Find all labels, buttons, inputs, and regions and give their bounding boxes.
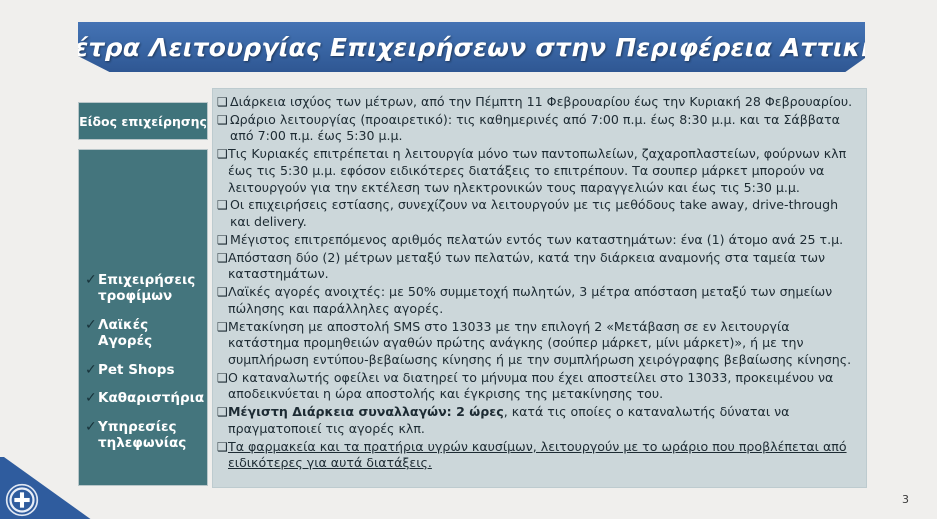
bullet-item: ❑Ωράριο λειτουργίας (προαιρετικό): τις κ… [217, 112, 859, 145]
bullet-text: Ωράριο λειτουργίας (προαιρετικό): τις κα… [230, 112, 859, 145]
bullet-text: Λαϊκές αγορές ανοιχτές: με 50% συμμετοχή… [228, 284, 859, 317]
bullet-item: ❑Τα φαρμακεία και τα πρατήρια υγρών καυσ… [217, 439, 859, 472]
bullet-text: Μέγιστη Διάρκεια συναλλαγών: 2 ώρες, κατ… [228, 404, 859, 437]
bullet-text: Απόσταση δύο (2) μέτρων μεταξύ των πελατ… [228, 250, 859, 283]
sidebar-item-label: Επιχειρήσεις τροφίμων [98, 272, 203, 305]
bullet-bold-prefix: Μέγιστη Διάρκεια συναλλαγών: 2 ώρες [228, 404, 504, 419]
sidebar-item-label: Υπηρεσίες τηλεφωνίας [98, 419, 203, 452]
bullet-item: ❑Μέγιστη Διάρκεια συναλλαγών: 2 ώρες, κα… [217, 404, 859, 437]
bullet-item: ❑Τις Κυριακές επιτρέπεται η λειτουργία μ… [217, 146, 859, 196]
checkbox-bullet-icon: ❑ [217, 197, 230, 214]
sidebar-item-label: Pet Shops [98, 362, 175, 378]
hellenic-republic-emblem-icon [5, 483, 39, 517]
sidebar-item[interactable]: ✓Υπηρεσίες τηλεφωνίας [85, 419, 203, 452]
checkbox-bullet-icon: ❑ [217, 370, 228, 387]
checkbox-bullet-icon: ❑ [217, 404, 228, 421]
bullet-text: Μετακίνηση με αποστολή SMS στο 13033 με … [228, 319, 859, 369]
check-icon: ✓ [85, 317, 98, 333]
checkbox-bullet-icon: ❑ [217, 146, 228, 163]
checkbox-bullet-icon: ❑ [217, 250, 228, 267]
bullet-text: Τις Κυριακές επιτρέπεται η λειτουργία μό… [228, 146, 859, 196]
page-title: Μέτρα Λειτουργίας Επιχειρήσεων στην Περι… [49, 33, 893, 62]
bullet-text: Διάρκεια ισχύος των μέτρων, από την Πέμπ… [230, 94, 859, 111]
bullet-item: ❑Διάρκεια ισχύος των μέτρων, από την Πέμ… [217, 94, 859, 111]
bullet-item: ❑Οι επιχειρήσεις εστίασης, συνεχίζουν να… [217, 197, 859, 230]
checkbox-bullet-icon: ❑ [217, 232, 230, 249]
bullet-text: Τα φαρμακεία και τα πρατήρια υγρών καυσί… [228, 439, 859, 472]
checkbox-bullet-icon: ❑ [217, 284, 228, 301]
check-icon: ✓ [85, 419, 98, 435]
sidebar-header: Είδος επιχείρησης [78, 102, 208, 140]
checkbox-bullet-icon: ❑ [217, 319, 228, 336]
sidebar-item[interactable]: ✓Λαϊκές Αγορές [85, 317, 203, 350]
bullet-text: Ο καταναλωτής οφείλει να διατηρεί το μήν… [228, 370, 859, 403]
sidebar-item-label: Λαϊκές Αγορές [98, 317, 203, 350]
sidebar-item-label: Καθαριστήρια [98, 390, 204, 406]
check-icon: ✓ [85, 390, 98, 406]
sidebar-header-label: Είδος επιχείρησης [79, 114, 207, 129]
slide-title-banner: Μέτρα Λειτουργίας Επιχειρήσεων στην Περι… [78, 22, 865, 72]
sidebar-item[interactable]: ✓Επιχειρήσεις τροφίμων [85, 272, 203, 305]
sidebar-item-list: ✓Επιχειρήσεις τροφίμων✓Λαϊκές Αγορές✓Pet… [85, 272, 203, 464]
page-number: 3 [902, 493, 909, 506]
bullet-item: ❑Ο καταναλωτής οφείλει να διατηρεί το μή… [217, 370, 859, 403]
sidebar-item[interactable]: ✓Pet Shops [85, 362, 203, 378]
bullet-text: Οι επιχειρήσεις εστίασης, συνεχίζουν να … [230, 197, 859, 230]
bullet-item: ❑Μέγιστος επιτρεπόμενος αριθμός πελατών … [217, 232, 859, 249]
checkbox-bullet-icon: ❑ [217, 94, 230, 111]
check-icon: ✓ [85, 272, 98, 288]
bullet-item: ❑Μετακίνηση με αποστολή SMS στο 13033 με… [217, 319, 859, 369]
sidebar: Είδος επιχείρησης ✓Επιχειρήσεις τροφίμων… [78, 102, 208, 486]
bullet-item: ❑Απόσταση δύο (2) μέτρων μεταξύ των πελα… [217, 250, 859, 283]
sidebar-item[interactable]: ✓Καθαριστήρια [85, 390, 203, 406]
slide-canvas: Μέτρα Λειτουργίας Επιχειρήσεων στην Περι… [0, 0, 937, 519]
measures-bullet-list: ❑Διάρκεια ισχύος των μέτρων, από την Πέμ… [217, 94, 859, 472]
checkbox-bullet-icon: ❑ [217, 112, 230, 129]
sidebar-body: ✓Επιχειρήσεις τροφίμων✓Λαϊκές Αγορές✓Pet… [78, 149, 208, 486]
checkbox-bullet-icon: ❑ [217, 439, 228, 456]
bullet-text: Μέγιστος επιτρεπόμενος αριθμός πελατών ε… [230, 232, 859, 249]
content-panel: ❑Διάρκεια ισχύος των μέτρων, από την Πέμ… [212, 88, 867, 488]
check-icon: ✓ [85, 362, 98, 378]
bullet-item: ❑Λαϊκές αγορές ανοιχτές: με 50% συμμετοχ… [217, 284, 859, 317]
